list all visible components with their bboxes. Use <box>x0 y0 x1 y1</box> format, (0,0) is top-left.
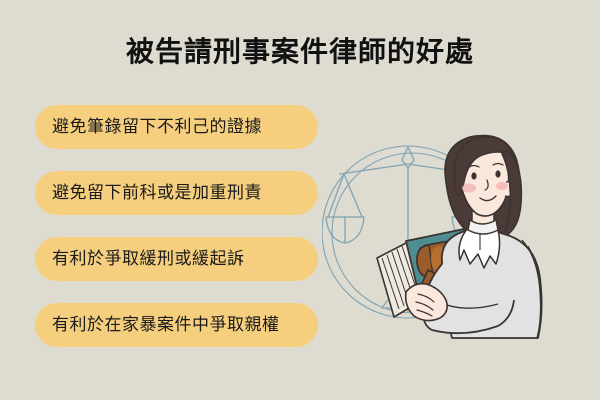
list-item-label: 有利於爭取緩刑或緩起訴 <box>52 249 245 269</box>
list-item: 有利於爭取緩刑或緩起訴 <box>35 237 318 281</box>
list-item-label: 避免留下前科或是加重刑責 <box>52 183 262 203</box>
list-item-label: 避免筆錄留下不利己的證據 <box>52 117 262 137</box>
list-item: 有利於在家暴案件中爭取親權 <box>35 303 318 347</box>
poster-canvas: 被告請刑事案件律師的好處 避免筆錄留下不利己的證據 避免留下前科或是加重刑責 有… <box>0 0 600 400</box>
list-item-label: 有利於在家暴案件中爭取親權 <box>52 315 280 335</box>
female-lawyer-with-scales-illustration <box>322 112 592 362</box>
page-title: 被告請刑事案件律師的好處 <box>0 33 600 71</box>
list-item: 避免留下前科或是加重刑責 <box>35 171 318 215</box>
benefits-list: 避免筆錄留下不利己的證據 避免留下前科或是加重刑責 有利於爭取緩刑或緩起訴 有利… <box>35 105 318 369</box>
list-item: 避免筆錄留下不利己的證據 <box>35 105 318 149</box>
